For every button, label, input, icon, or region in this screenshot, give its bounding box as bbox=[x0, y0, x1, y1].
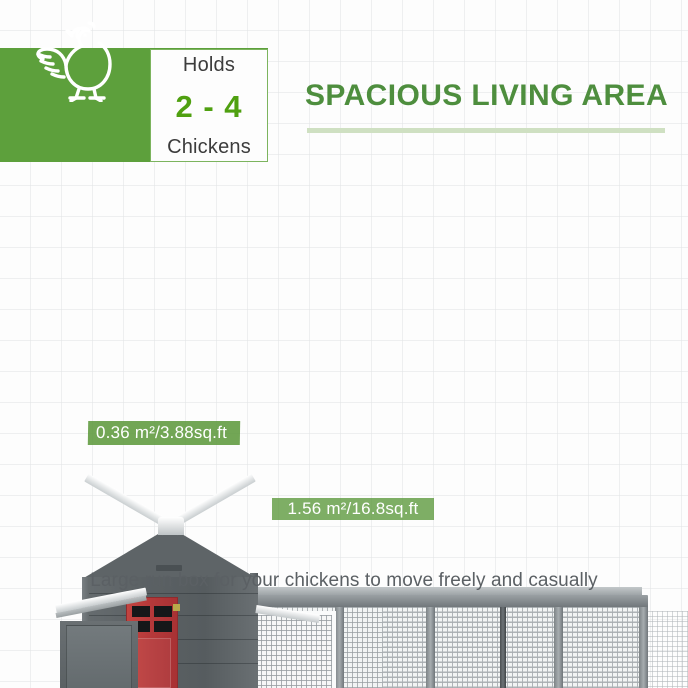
run-post bbox=[500, 607, 506, 688]
door-panel bbox=[133, 638, 171, 688]
coop-ridge-cap bbox=[158, 517, 184, 535]
holds-label: Holds bbox=[183, 55, 235, 75]
caption-text: Large run box for your chickens to move … bbox=[0, 570, 688, 592]
run-post bbox=[639, 607, 648, 688]
door-pane bbox=[154, 606, 172, 617]
chicken-icon bbox=[26, 14, 138, 102]
run-post bbox=[426, 607, 435, 688]
measurement-run-area: 1.56 m²/16.8sq.ft bbox=[272, 498, 434, 520]
nesting-box-lid bbox=[66, 625, 132, 688]
door-pane bbox=[132, 606, 150, 617]
title-underline bbox=[307, 128, 665, 133]
product-illustration bbox=[0, 250, 688, 535]
run-post bbox=[554, 607, 563, 688]
nesting-box bbox=[60, 621, 138, 688]
door-pane bbox=[154, 621, 172, 632]
page-title: SPACIOUS LIVING AREA bbox=[305, 79, 668, 113]
capacity-callout: Holds 2 - 4 Chickens bbox=[150, 49, 268, 162]
coop-door-latch bbox=[173, 604, 180, 611]
coop-house bbox=[60, 505, 280, 688]
measurement-coop-area: 0.36 m²/3.88sq.ft bbox=[88, 421, 240, 445]
infographic-page: Holds 2 - 4 Chickens SPACIOUS LIVING ARE… bbox=[0, 0, 688, 688]
chickens-label: Chickens bbox=[167, 137, 251, 157]
capacity-value: 2 - 4 bbox=[175, 91, 242, 122]
run-post bbox=[335, 607, 344, 688]
